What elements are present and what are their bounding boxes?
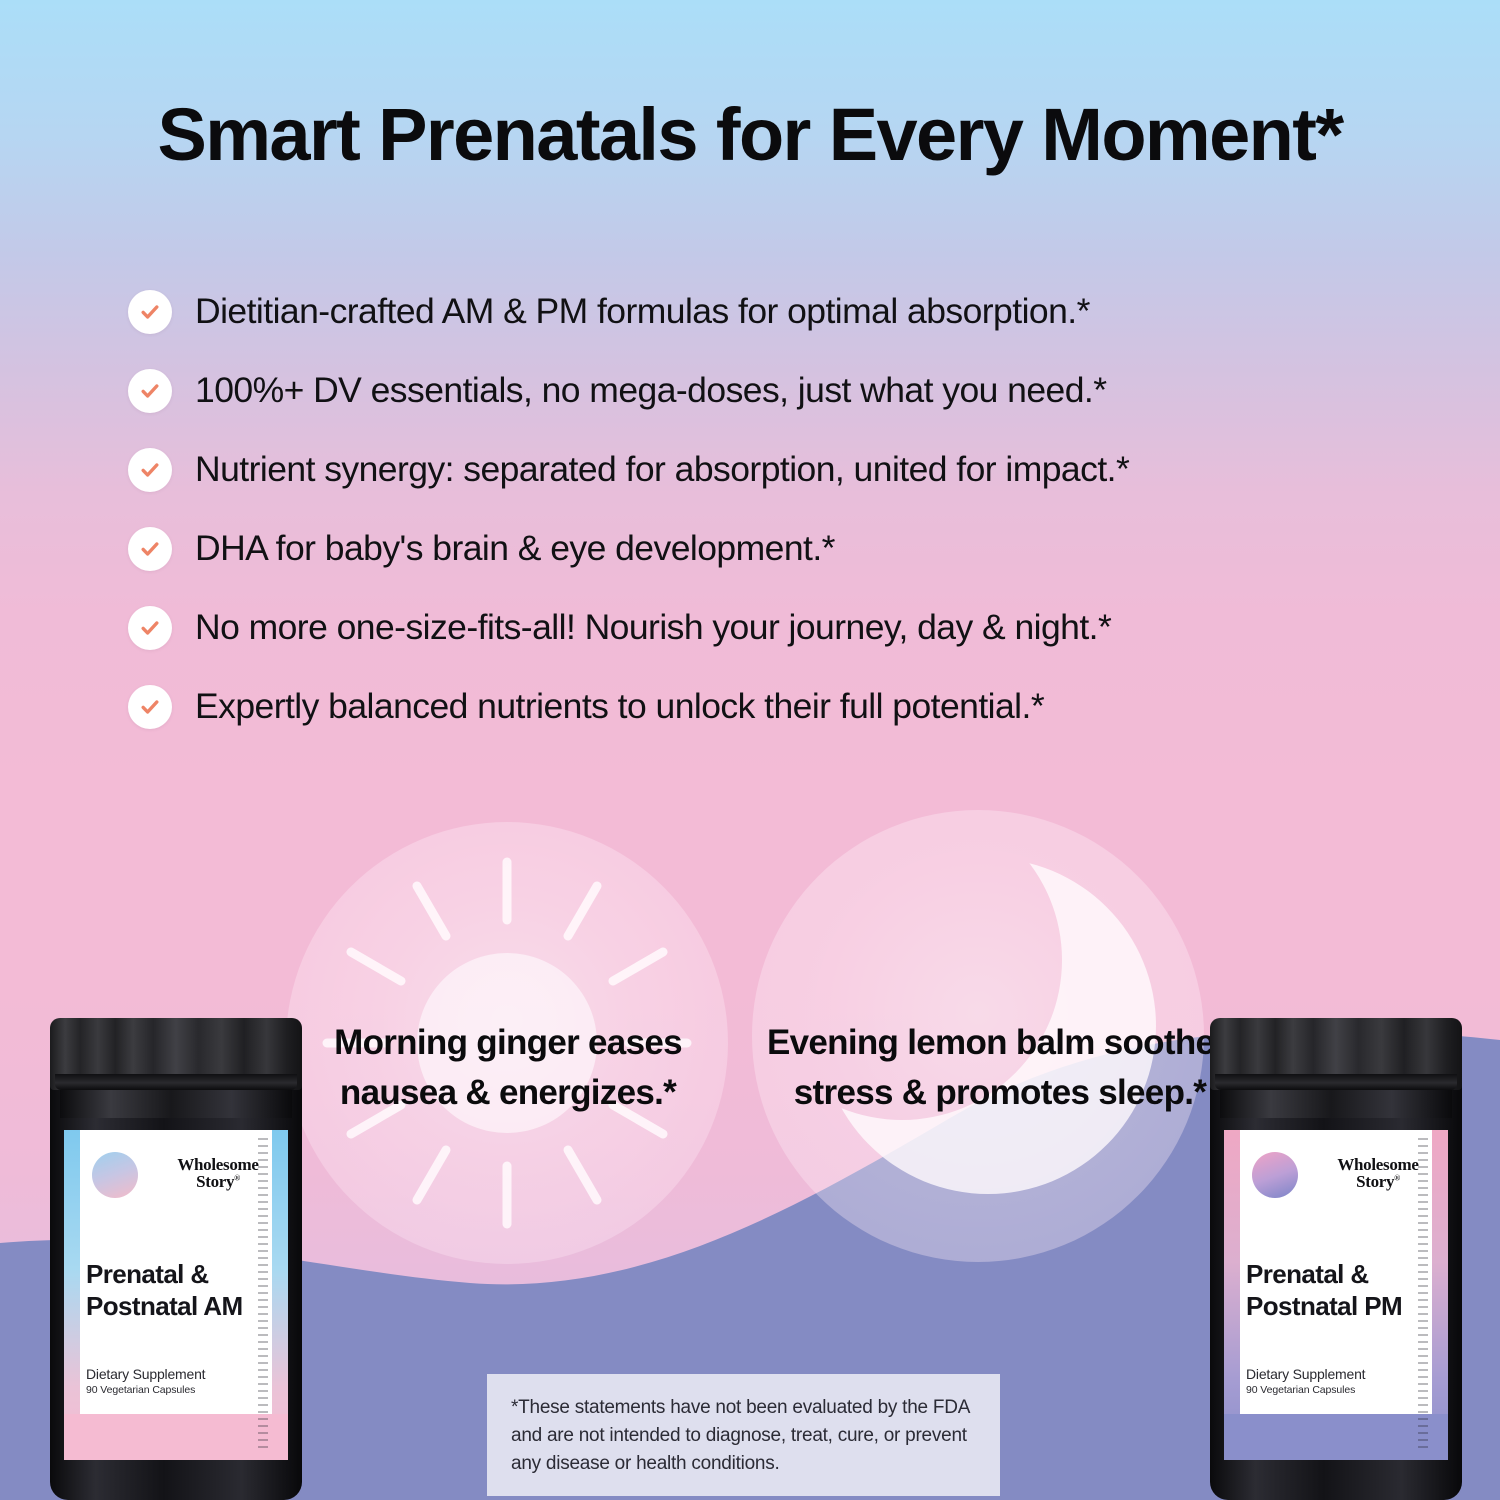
bottle-cap [1210,1018,1462,1090]
check-icon [128,369,172,413]
brand-line-1: Wholesome [164,1156,272,1173]
product-subtext: Dietary Supplement 90 Vegetarian Capsule… [86,1366,205,1396]
brand-registered-mark: ® [234,1173,240,1182]
product-name: Prenatal & Postnatal AM [86,1258,276,1322]
brand-dot-icon [92,1152,138,1198]
supplement-label: Dietary Supplement [86,1366,205,1382]
label-accent-left [1224,1130,1240,1460]
brand-line-2: Story [1356,1172,1394,1191]
brand-logo: Wholesome Story® [164,1156,272,1190]
label-side-text-marks [1418,1138,1428,1452]
product-name-line-2: Postnatal AM [86,1290,276,1322]
label-side-text-marks [258,1138,268,1452]
check-icon [128,606,172,650]
fda-disclaimer-text: *These statements have not been evaluate… [511,1394,978,1478]
product-label-pm: Wholesome Story® Prenatal & Postnatal PM… [1224,1130,1448,1460]
product-subtext: Dietary Supplement 90 Vegetarian Capsule… [1246,1366,1365,1396]
caption-line-1: Evening lemon balm soothes [750,1018,1250,1068]
capsule-count-label: 90 Vegetarian Capsules [1246,1384,1365,1396]
check-icon [128,685,172,729]
check-icon [128,290,172,334]
brand-dot-icon [1252,1152,1298,1198]
list-item-label: No more one-size-fits-all! Nourish your … [195,610,1111,646]
brand-registered-mark: ® [1394,1173,1400,1182]
poster-canvas: Smart Prenatals for Every Moment* Dietit… [0,0,1500,1500]
list-item: Expertly balanced nutrients to unlock th… [128,667,1418,746]
list-item: No more one-size-fits-all! Nourish your … [128,588,1418,667]
product-name-line-1: Prenatal & [1246,1258,1436,1290]
feature-caption-morning: Morning ginger eases nausea & energizes.… [288,1018,728,1119]
benefits-list: Dietitian-crafted AM & PM formulas for o… [128,272,1418,746]
list-item-label: Expertly balanced nutrients to unlock th… [195,689,1044,725]
list-item: Nutrient synergy: separated for absorpti… [128,430,1418,509]
list-item-label: Dietitian-crafted AM & PM formulas for o… [195,294,1090,330]
brand-line-2: Story [196,1172,234,1191]
product-label-am: Wholesome Story® Prenatal & Postnatal AM… [64,1130,288,1460]
brand-line-1: Wholesome [1324,1156,1432,1173]
label-accent-bottom [64,1414,288,1460]
capsule-count-label: 90 Vegetarian Capsules [86,1384,205,1396]
label-accent-left [64,1130,80,1460]
list-item-label: 100%+ DV essentials, no mega-doses, just… [195,373,1107,409]
label-accent-bottom [1224,1414,1448,1460]
product-name-line-1: Prenatal & [86,1258,276,1290]
page-title: Smart Prenatals for Every Moment* [0,96,1500,174]
bottle-cap [50,1018,302,1090]
check-icon [128,448,172,492]
list-item: 100%+ DV essentials, no mega-doses, just… [128,351,1418,430]
brand-logo: Wholesome Story® [1324,1156,1432,1190]
fda-disclaimer-box: *These statements have not been evaluate… [487,1374,1000,1496]
supplement-label: Dietary Supplement [1246,1366,1365,1382]
product-name: Prenatal & Postnatal PM [1246,1258,1436,1322]
product-bottle-pm[interactable]: Wholesome Story® Prenatal & Postnatal PM… [1210,1018,1462,1500]
caption-line-1: Morning ginger eases [288,1018,728,1068]
feature-caption-evening: Evening lemon balm soothes stress & prom… [750,1018,1250,1119]
caption-line-2: nausea & energizes.* [288,1068,728,1118]
list-item: DHA for baby's brain & eye development.* [128,509,1418,588]
list-item: Dietitian-crafted AM & PM formulas for o… [128,272,1418,351]
list-item-label: Nutrient synergy: separated for absorpti… [195,452,1129,488]
product-bottle-am[interactable]: Wholesome Story® Prenatal & Postnatal AM… [50,1018,302,1500]
list-item-label: DHA for baby's brain & eye development.* [195,531,835,567]
product-name-line-2: Postnatal PM [1246,1290,1436,1322]
check-icon [128,527,172,571]
caption-line-2: stress & promotes sleep.* [750,1068,1250,1118]
